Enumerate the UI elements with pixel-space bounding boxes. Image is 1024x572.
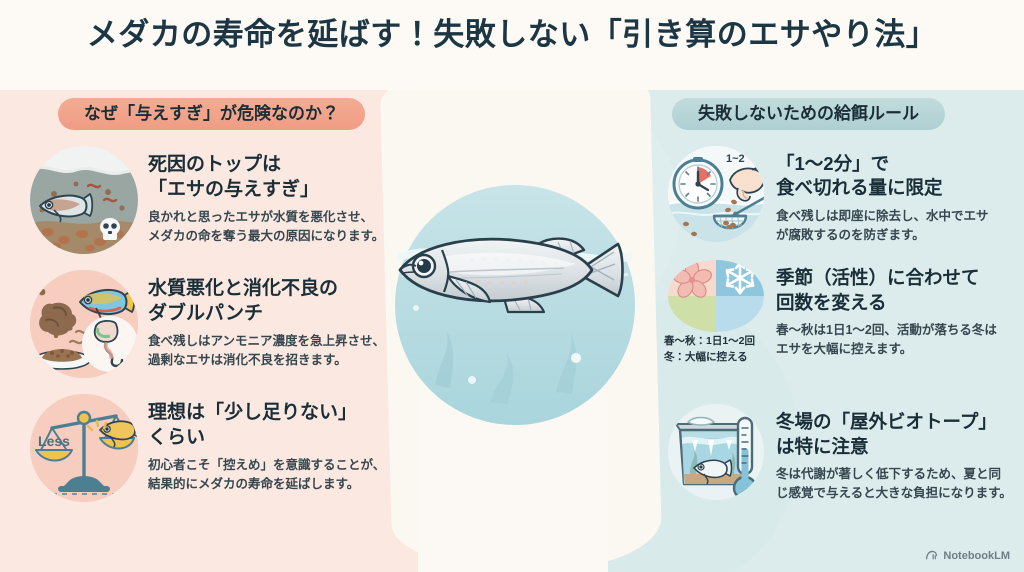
list-item-body: 死因のトップは 「エサの与えすぎ」 良かれと思ったエサが水質を悪化させ、 メダカ… [148,146,430,246]
list-item-title: 理想は「少し足りない」 くらい [148,400,430,450]
list-item-title: 死因のトップは 「エサの与えすぎ」 [148,152,430,202]
polluted-tank-fish-skull-icon [30,146,138,254]
clock-duration-label: 1~2 [726,153,745,165]
section-header-right: 失敗しないための給餌ルール [672,98,945,130]
notebooklm-logo-icon [925,549,938,562]
list-item: 春〜秋：1日1〜2回 冬：大幅に控える 季節（活性）に合わせて 回数を変える 春… [668,260,1018,370]
left-column: 死因のトップは 「エサの与えすぎ」 良かれと思ったエサが水質を悪化させ、 メダカ… [30,146,430,518]
watermark-label: NotebookLM [943,550,1010,562]
list-item-title: 「1〜2分」で 食べ切れる量に限定 [776,152,1018,201]
list-item-description: 食べ残しはアンモニア濃度を急上昇させ、 過剰なエサは消化不良を招きます。 [148,332,430,370]
balance-scale-less-icon: Less [30,394,138,502]
list-item-description: 初心者こそ「控えめ」を意識することが、 結果的にメダカの寿命を延ばします。 [148,456,430,494]
right-column: 1~2 [668,146,1018,519]
watermark: NotebookLM [925,549,1010,562]
season-quadrant-sakura-snowflake-icon: 春〜秋：1日1〜2回 冬：大幅に控える [668,260,764,370]
list-item-body: 理想は「少し足りない」 くらい 初心者こそ「控えめ」を意識することが、 結果的に… [148,394,430,494]
list-item-description: 良かれと思ったエサが水質を悪化させ、 メダカの命を奪う最大の原因になります。 [148,208,430,246]
list-item: 1~2 [668,146,1018,244]
scale-less-label: Less [38,433,70,449]
list-item-title: 季節（活性）に合わせて 回数を変える [776,266,1018,315]
list-item-description: 食べ残しは即座に除去し、水中でエサ が腐敗するのを防ぎます。 [776,207,1018,245]
list-item-description: 春〜秋は1日1〜2回、活動が落ちる冬は エサを大幅に控えます。 [776,321,1018,359]
page-title: メダカの寿命を延ばす！失敗しない「引き算のエサやり法」 [0,16,1024,55]
winter-outdoor-biotope-thermometer-icon [668,404,764,500]
list-item-title: 冬場の「屋外ビオトープ」 は特に注意 [776,410,1018,459]
season-caption: 春〜秋：1日1〜2回 冬：大幅に控える [664,334,772,364]
section-header-left: なぜ「与えすぎ」が危険なのか？ [58,98,365,130]
list-item-body: 水質悪化と消化不良の ダブルパンチ 食べ残しはアンモニア濃度を急上昇させ、 過剰… [148,270,430,370]
list-item-body: 季節（活性）に合わせて 回数を変える 春〜秋は1日1〜2回、活動が落ちる冬は エ… [776,260,1018,358]
list-item: 死因のトップは 「エサの与えすぎ」 良かれと思ったエサが水質を悪化させ、 メダカ… [30,146,430,254]
list-item-body: 冬場の「屋外ビオトープ」 は特に注意 冬は代謝が著しく低下するため、夏と同 じ感… [776,404,1018,502]
infographic-canvas: メダカの寿命を延ばす！失敗しない「引き算のエサやり法」 なぜ「与えすぎ」が危険な… [0,0,1024,572]
list-item: 水質悪化と消化不良の ダブルパンチ 食べ残しはアンモニア濃度を急上昇させ、 過剰… [30,270,430,378]
list-item-body: 「1〜2分」で 食べ切れる量に限定 食べ残しは即座に除去し、水中でエサ が腐敗す… [776,146,1018,244]
list-item: 冬場の「屋外ビオトープ」 は特に注意 冬は代謝が著しく低下するため、夏と同 じ感… [668,404,1018,502]
timer-hand-feeding-net-icon: 1~2 [668,146,764,242]
water-quality-digestion-icon [30,270,138,378]
list-item-title: 水質悪化と消化不良の ダブルパンチ [148,276,430,326]
list-item: Less [30,394,430,502]
list-item-description: 冬は代謝が著しく低下するため、夏と同 じ感覚で与えると大きな負担になります。 [776,465,1018,503]
